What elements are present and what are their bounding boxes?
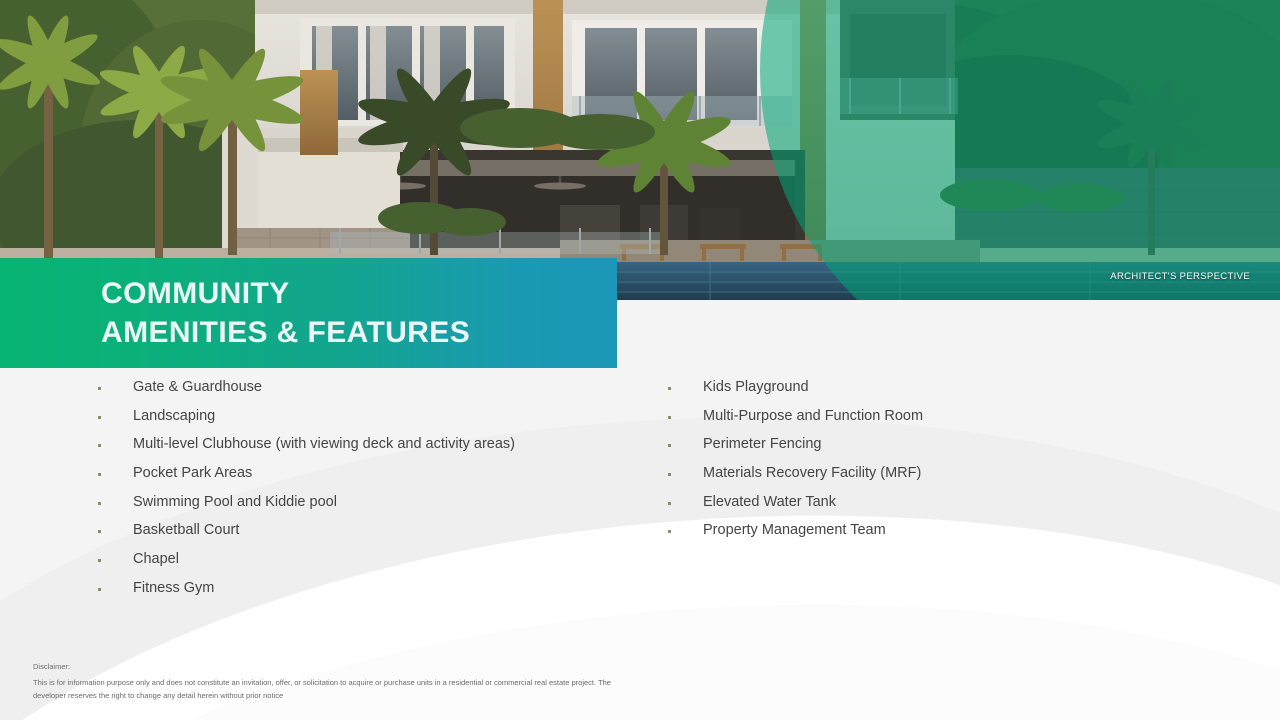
amenity-list-item: Landscaping [98,407,638,436]
architectural-rendering-image [0,0,1280,300]
bullet-icon [98,444,101,447]
disclaimer-body: This is for information purpose only and… [33,677,633,702]
amenity-label: Perimeter Fencing [703,435,821,454]
amenity-list-item: Multi-Purpose and Function Room [668,407,1188,436]
presentation-slide: ARCHITECT'S PERSPECTIVE COMMUNITY AMENIT… [0,0,1280,720]
bullet-icon [98,473,101,476]
amenity-list-item: Pocket Park Areas [98,464,638,493]
bullet-icon [98,502,101,505]
bullet-icon [98,530,101,533]
architects-perspective-caption: ARCHITECT'S PERSPECTIVE [1110,271,1250,282]
bullet-icon [98,416,101,419]
amenity-label: Landscaping [133,407,215,426]
amenity-label: Kids Playground [703,378,809,397]
amenity-label: Gate & Guardhouse [133,378,262,397]
amenity-label: Swimming Pool and Kiddie pool [133,493,337,512]
amenity-label: Materials Recovery Facility (MRF) [703,464,921,483]
amenities-right-column: Kids PlaygroundMulti-Purpose and Functio… [668,378,1188,550]
bullet-icon [668,416,671,419]
bullet-icon [98,559,101,562]
amenity-list-item: Chapel [98,550,638,579]
amenity-label: Property Management Team [703,521,886,540]
bullet-icon [668,530,671,533]
hero-photo [0,0,1280,300]
page-title-line-1: COMMUNITY [101,274,617,313]
amenity-label: Multi-level Clubhouse (with viewing deck… [133,435,515,454]
amenity-label: Pocket Park Areas [133,464,252,483]
disclaimer: Disclaimer: This is for information purp… [33,661,633,702]
page-title-line-2: AMENITIES & FEATURES [101,313,617,352]
amenity-list-item: Elevated Water Tank [668,493,1188,522]
amenity-list-item: Multi-level Clubhouse (with viewing deck… [98,435,638,464]
amenity-list-item: Perimeter Fencing [668,435,1188,464]
bullet-icon [668,502,671,505]
amenity-label: Chapel [133,550,179,569]
amenity-label: Fitness Gym [133,579,214,598]
amenity-list-item: Kids Playground [668,378,1188,407]
amenity-list-item: Swimming Pool and Kiddie pool [98,493,638,522]
bullet-icon [668,387,671,390]
bullet-icon [668,444,671,447]
bullet-icon [98,588,101,591]
amenity-list-item: Basketball Court [98,521,638,550]
amenity-list-item: Gate & Guardhouse [98,378,638,407]
amenity-list-item: Property Management Team [668,521,1188,550]
amenity-label: Multi-Purpose and Function Room [703,407,923,426]
disclaimer-label: Disclaimer: [33,661,633,673]
title-banner: COMMUNITY AMENITIES & FEATURES [0,258,617,368]
amenity-list-item: Materials Recovery Facility (MRF) [668,464,1188,493]
bullet-icon [668,473,671,476]
amenity-list-item: Fitness Gym [98,579,638,608]
amenity-label: Elevated Water Tank [703,493,836,512]
amenity-label: Basketball Court [133,521,239,540]
amenities-left-column: Gate & GuardhouseLandscapingMulti-level … [98,378,638,608]
bullet-icon [98,387,101,390]
